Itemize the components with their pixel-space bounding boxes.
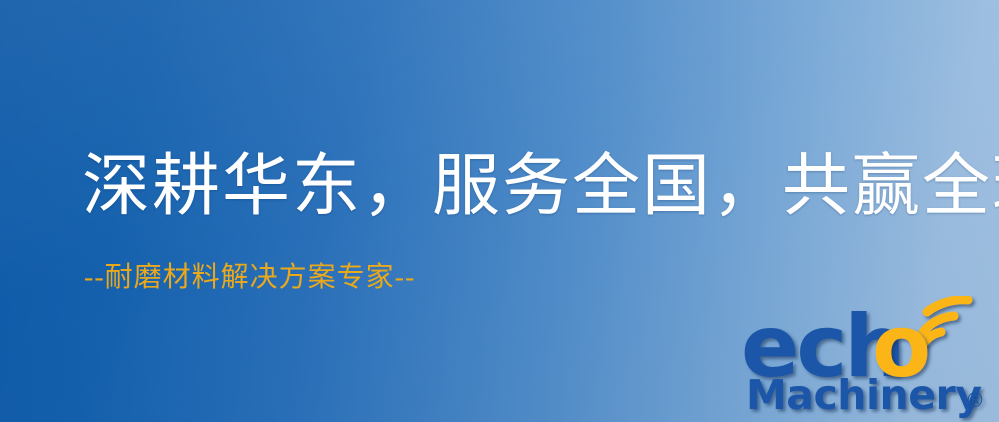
registered-trademark-icon: ®	[965, 388, 985, 412]
banner-subtitle: --耐磨材料解决方案专家--	[84, 264, 415, 292]
echo-machinery-logo: ech o Machinery ®	[744, 296, 999, 422]
banner-headline: 深耕华东，服务全国，共赢全球	[82, 152, 999, 220]
promo-banner: 深耕华东，服务全国，共赢全球 --耐磨材料解决方案专家-- ech o Mach…	[0, 0, 999, 422]
logo-text-machinery: Machinery	[746, 371, 981, 419]
